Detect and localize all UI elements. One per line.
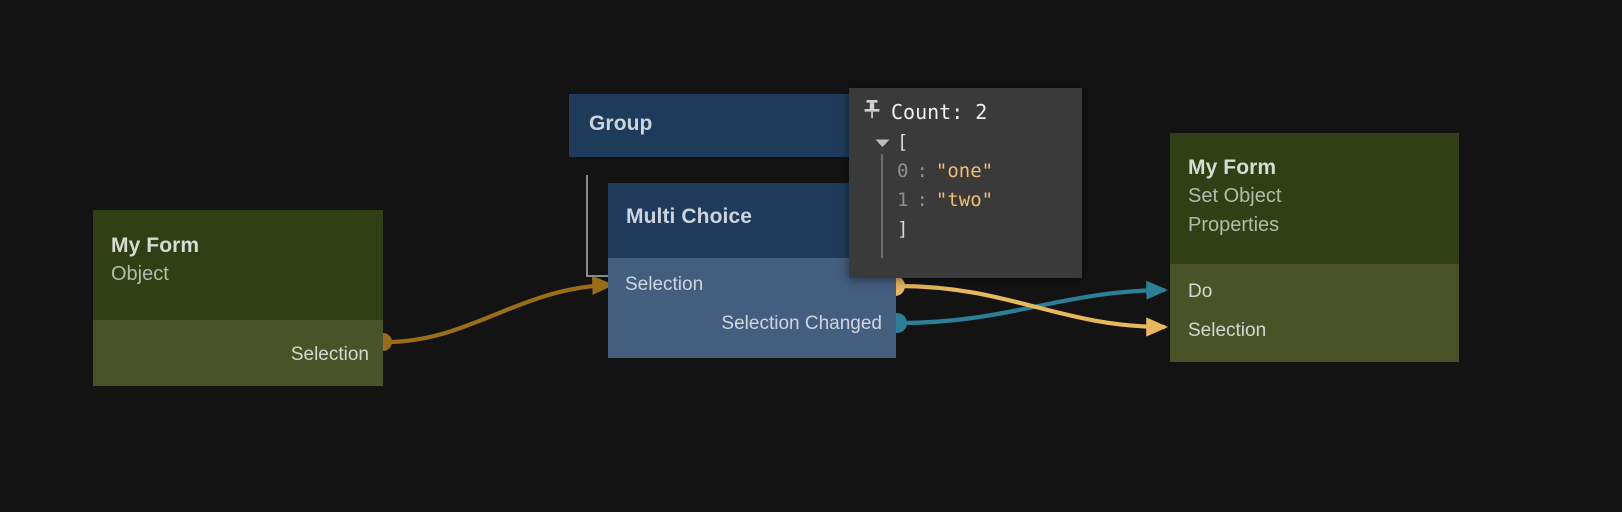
node-graph-canvas[interactable]: My Form Object Selection Group Multi Cho… [0,0,1622,512]
open-bracket: [ [897,128,908,157]
node-set-object-properties[interactable]: My Form Set Object Properties Do Selecti… [1170,133,1459,362]
output-port-selection-label: Selection [291,344,369,365]
tree-row-open[interactable]: [ [867,128,1068,157]
node-subtitle: Object [111,260,365,288]
node-header[interactable]: Group [569,94,859,157]
tree-row-close: ] [867,215,1068,244]
entry-value: "one" [936,157,993,186]
input-port-do[interactable]: Do [1188,282,1212,301]
input-port-selection-label: Selection [1188,320,1266,341]
node-group[interactable]: Group [569,94,859,157]
close-bracket: ] [897,215,908,244]
node-subtitle-line2: Properties [1188,211,1441,239]
output-port-selection-changed-label: Selection Changed [721,313,882,334]
chevron-down-icon[interactable] [867,138,897,148]
entry-key: 0 [897,157,908,186]
node-body[interactable]: Selection [93,320,383,386]
input-port-selection[interactable]: Selection [625,275,703,294]
entry-separator: : [908,157,935,186]
entry-separator: : [908,186,935,215]
node-subtitle-line1: Set Object [1188,182,1441,210]
node-header[interactable]: My Form Set Object Properties [1170,133,1459,264]
node-title: My Form [1188,154,1441,182]
wire-selection-to-multichoice [386,285,611,342]
input-port-do-label: Do [1188,281,1212,302]
node-title: My Form [111,232,365,260]
pin-icon[interactable] [863,98,881,126]
node-header[interactable]: My Form Object [93,210,383,320]
entry-key: 1 [897,186,908,215]
node-title: Group [589,110,841,138]
wire-selection-changed-to-do [899,290,1165,323]
input-port-selection-label: Selection [625,274,703,295]
node-my-form-object[interactable]: My Form Object Selection [93,210,383,386]
node-title: Multi Choice [626,203,878,231]
output-port-selection[interactable]: Selection [291,345,369,364]
tree-row-entry-1[interactable]: 1 : "two" [867,186,1068,215]
tree-row-entry-0[interactable]: 0 : "one" [867,157,1068,186]
watch-value-tree: [ 0 : "one" 1 : "two" ] [863,128,1068,244]
watch-value-popup[interactable]: Count: 2 [ 0 : "one" 1 : [849,88,1082,278]
wire-selection-to-selection [898,286,1165,327]
entry-value: "two" [936,186,993,215]
watch-popup-count-label: Count: 2 [891,98,987,126]
output-port-selection-changed[interactable]: Selection Changed [721,314,882,333]
input-port-selection[interactable]: Selection [1188,321,1266,340]
tree-guide-line [881,154,883,258]
node-body[interactable]: Do Selection [1170,264,1459,362]
watch-popup-header: Count: 2 [863,98,1068,126]
